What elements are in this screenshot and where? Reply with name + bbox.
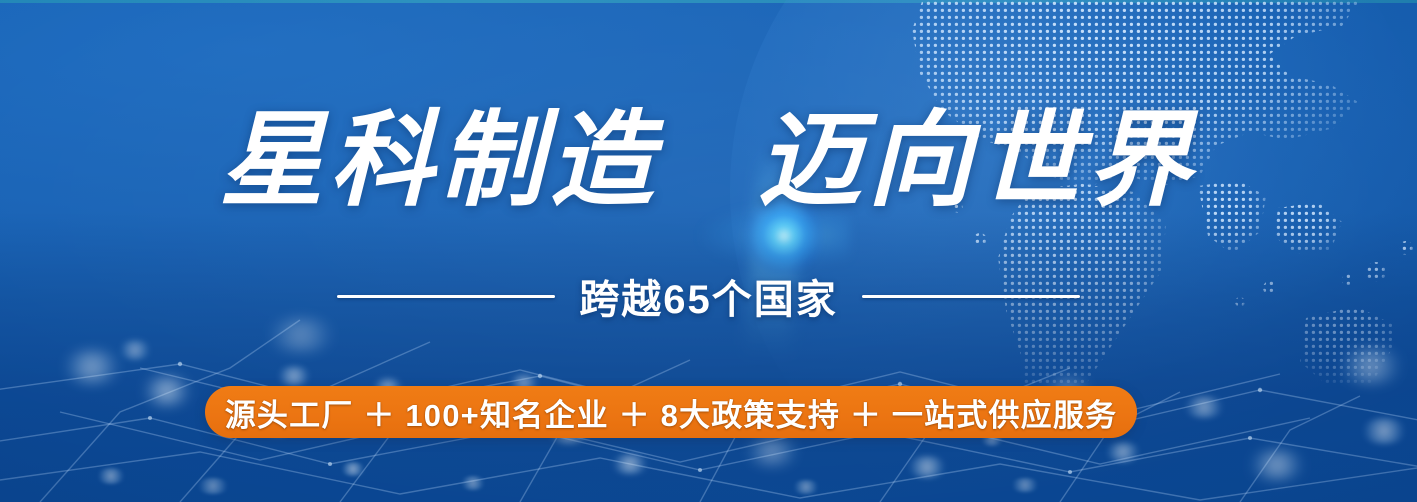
divider-rule-right bbox=[862, 295, 1080, 298]
headline-part-1: 星科制造 bbox=[219, 104, 659, 219]
divider-rule-left bbox=[337, 295, 555, 298]
subtitle-text: 跨越65个国家 bbox=[573, 267, 844, 325]
promotional-banner: 星科制造 迈向世界 跨越65个国家 源头工厂 ＋ 100+知名企业 ＋ 8大政策… bbox=[0, 0, 1417, 502]
highlights-badge[interactable]: 源头工厂 ＋ 100+知名企业 ＋ 8大政策支持 ＋ 一站式供应服务 bbox=[205, 386, 1137, 438]
highlights-badge-text: 源头工厂 ＋ 100+知名企业 ＋ 8大政策支持 ＋ 一站式供应服务 bbox=[225, 390, 1118, 435]
banner-content: 星科制造 迈向世界 跨越65个国家 源头工厂 ＋ 100+知名企业 ＋ 8大政策… bbox=[0, 0, 1417, 502]
headline-part-2: 迈向世界 bbox=[758, 104, 1198, 219]
headline: 星科制造 迈向世界 bbox=[0, 102, 1417, 222]
subtitle-row: 跨越65个国家 bbox=[0, 268, 1417, 324]
